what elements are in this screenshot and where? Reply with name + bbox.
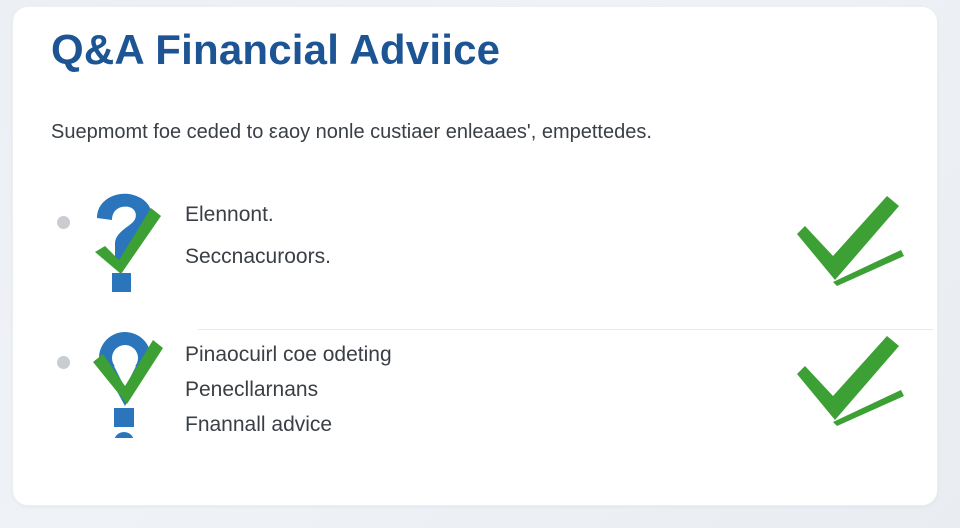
exclamation-check-icon (85, 328, 163, 438)
qa-financial-advice-card: Q&A Financial Adviice Suepmomt foe ceded… (12, 6, 938, 506)
advice-list: Elennont. Seccnacuroors. (13, 182, 938, 472)
bullet-dot-icon (57, 216, 70, 229)
list-divider (198, 329, 933, 330)
list-item[interactable]: Pinaocuirl coe odeting Penecllarnans Fna… (13, 322, 938, 472)
question-mark-check-icon (85, 188, 163, 298)
list-item-line: Elennont. (185, 204, 789, 225)
list-item[interactable]: Elennont. Seccnacuroors. (13, 182, 938, 322)
green-checkmark-icon (789, 330, 909, 426)
list-item-line: Seccnacuroors. (185, 246, 789, 267)
list-item-text: Pinaocuirl coe odeting Penecllarnans Fna… (163, 322, 789, 449)
list-item-line: Fnannall advice (185, 414, 789, 435)
green-checkmark-icon (789, 190, 909, 286)
page-title: Q&A Financial Adviice (51, 27, 500, 73)
page-root: Q&A Financial Adviice Suepmomt foe ceded… (0, 0, 960, 528)
list-item-text: Elennont. Seccnacuroors. (163, 182, 789, 267)
list-item-line: Penecllarnans (185, 379, 789, 400)
list-item-line: Pinaocuirl coe odeting (185, 344, 789, 365)
page-subtitle: Suepmomt foe ceded to εaoy nonle custiae… (51, 120, 652, 144)
bullet-dot-icon (57, 356, 70, 369)
